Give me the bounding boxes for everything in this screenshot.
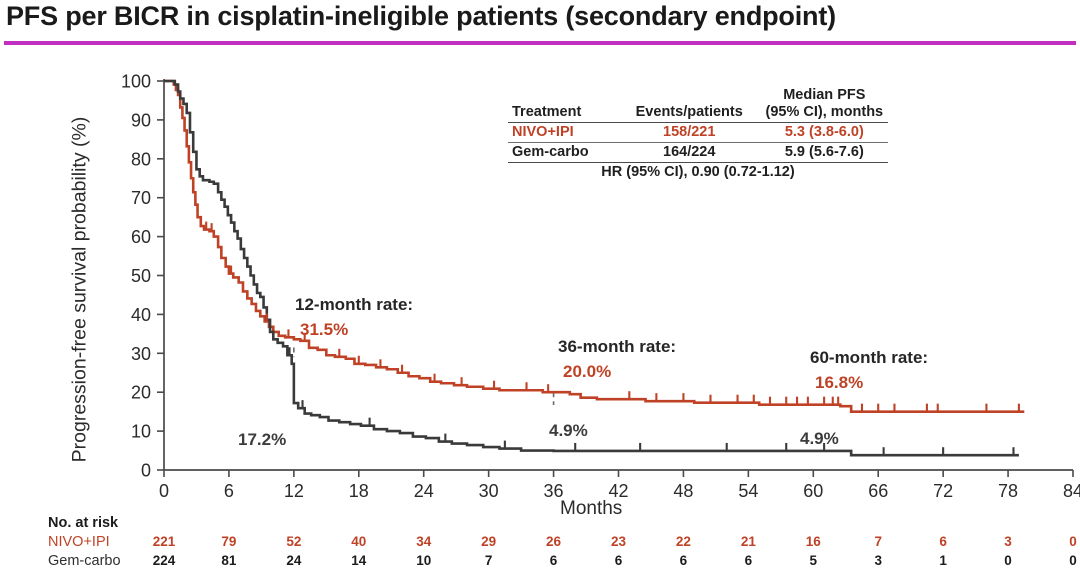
risk-count-gem-month-0: 224: [144, 553, 184, 568]
stats-row-nivo: NIVO+IPI 158/221 5.3 (3.8-6.0): [508, 123, 888, 143]
risk-count-gem-month-6: 81: [209, 553, 249, 568]
stats-col-median-line1: Median PFS: [765, 87, 884, 104]
svg-text:30: 30: [479, 481, 499, 501]
reference-lines-group: [294, 347, 813, 404]
annotation-60-month-gem-value: 4.9%: [800, 429, 839, 449]
stats-row-hr: HR (95% CI), 0.90 (0.72-1.12): [508, 162, 888, 181]
svg-text:60: 60: [803, 481, 823, 501]
svg-text:72: 72: [933, 481, 953, 501]
stats-nivo-median: 5.3 (3.8-6.0): [761, 123, 888, 143]
annotation-12-month-nivo-value: 31.5%: [300, 320, 348, 340]
risk-count-nivo-month-6: 79: [209, 534, 249, 549]
svg-text:80: 80: [131, 149, 151, 169]
risk-row-label-gem: Gem-carbo: [48, 553, 121, 569]
risk-count-gem-month-12: 24: [274, 553, 314, 568]
svg-text:48: 48: [673, 481, 693, 501]
svg-text:40: 40: [131, 305, 151, 325]
risk-count-nivo-month-0: 221: [144, 534, 184, 549]
annotation-36-month-nivo-value: 20.0%: [563, 362, 611, 382]
stats-gem-median: 5.9 (5.6-7.6): [761, 143, 888, 163]
risk-count-nivo-month-60: 16: [793, 534, 833, 549]
risk-count-gem-month-72: 1: [923, 553, 963, 568]
risk-count-gem-month-60: 5: [793, 553, 833, 568]
stats-header-row: Treatment Events/patients Median PFS (95…: [508, 86, 888, 123]
svg-text:20: 20: [131, 383, 151, 403]
risk-count-gem-month-42: 6: [599, 553, 639, 568]
risk-count-nivo-month-54: 21: [728, 534, 768, 549]
page-title: PFS per BICR in cisplatin-ineligible pat…: [6, 1, 836, 32]
risk-count-nivo-month-78: 3: [988, 534, 1028, 549]
annotation-36-month-title: 36-month rate:: [558, 337, 676, 357]
number-at-risk-table: No. at risk NIVO+IPI Gem-carbo 221224798…: [0, 515, 1080, 582]
svg-text:50: 50: [131, 266, 151, 286]
svg-text:60: 60: [131, 227, 151, 247]
stats-col-events: Events/patients: [618, 86, 761, 123]
stats-gem-events: 164/224: [618, 143, 761, 163]
risk-count-gem-month-24: 10: [404, 553, 444, 568]
stats-gem-treatment: Gem-carbo: [508, 143, 618, 163]
svg-text:12: 12: [284, 481, 304, 501]
svg-text:18: 18: [349, 481, 369, 501]
stats-nivo-events: 158/221: [618, 123, 761, 143]
risk-count-gem-month-84: 0: [1053, 553, 1080, 568]
risk-count-nivo-month-18: 40: [339, 534, 379, 549]
svg-text:66: 66: [868, 481, 888, 501]
svg-text:6: 6: [224, 481, 234, 501]
risk-count-gem-month-18: 14: [339, 553, 379, 568]
stats-hazard-ratio: HR (95% CI), 0.90 (0.72-1.12): [508, 162, 888, 181]
stats-row-gem: Gem-carbo 164/224 5.9 (5.6-7.6): [508, 143, 888, 163]
risk-count-nivo-month-12: 52: [274, 534, 314, 549]
risk-count-gem-month-48: 6: [663, 553, 703, 568]
risk-count-gem-month-66: 3: [858, 553, 898, 568]
risk-count-nivo-month-84: 0: [1053, 534, 1080, 549]
risk-count-gem-month-36: 6: [534, 553, 574, 568]
risk-count-gem-month-78: 0: [988, 553, 1028, 568]
annotation-12-month-title: 12-month rate:: [295, 295, 413, 315]
svg-text:100: 100: [121, 72, 151, 92]
svg-text:0: 0: [159, 481, 169, 501]
svg-text:10: 10: [131, 422, 151, 442]
risk-row-label-nivo: NIVO+IPI: [48, 534, 110, 550]
annotation-60-month-nivo-value: 16.8%: [815, 373, 863, 393]
risk-count-nivo-month-48: 22: [663, 534, 703, 549]
svg-text:24: 24: [414, 481, 434, 501]
chart-area: 0612182430364248546066727884010203040506…: [0, 46, 1080, 582]
svg-text:0: 0: [141, 461, 151, 481]
risk-count-nivo-month-30: 29: [469, 534, 509, 549]
risk-count-nivo-month-42: 23: [599, 534, 639, 549]
risk-count-gem-month-30: 7: [469, 553, 509, 568]
annotation-60-month-title: 60-month rate:: [810, 348, 928, 368]
stats-col-median: Median PFS (95% CI), months: [761, 86, 888, 123]
title-block: PFS per BICR in cisplatin-ineligible pat…: [0, 0, 1080, 46]
svg-text:30: 30: [131, 344, 151, 364]
svg-text:84: 84: [1063, 481, 1080, 501]
stats-col-treatment: Treatment: [508, 86, 618, 123]
slide-root: PFS per BICR in cisplatin-ineligible pat…: [0, 0, 1080, 582]
annotation-12-month-gem-value: 17.2%: [238, 430, 286, 450]
risk-count-nivo-month-66: 7: [858, 534, 898, 549]
svg-text:70: 70: [131, 188, 151, 208]
annotation-36-month-gem-value: 4.9%: [549, 421, 588, 441]
svg-text:78: 78: [998, 481, 1018, 501]
risk-count-nivo-month-24: 34: [404, 534, 444, 549]
risk-count-gem-month-54: 6: [728, 553, 768, 568]
risk-table-header: No. at risk: [48, 515, 118, 531]
statistics-table: Treatment Events/patients Median PFS (95…: [508, 86, 888, 181]
stats-col-median-line2: (95% CI), months: [765, 104, 884, 121]
stats-nivo-treatment: NIVO+IPI: [508, 123, 618, 143]
risk-count-nivo-month-36: 26: [534, 534, 574, 549]
svg-text:90: 90: [131, 110, 151, 130]
y-axis-label: Progression-free survival probability (%…: [69, 90, 92, 490]
title-underline-rule: [4, 41, 1076, 45]
svg-text:54: 54: [738, 481, 758, 501]
risk-count-nivo-month-72: 6: [923, 534, 963, 549]
